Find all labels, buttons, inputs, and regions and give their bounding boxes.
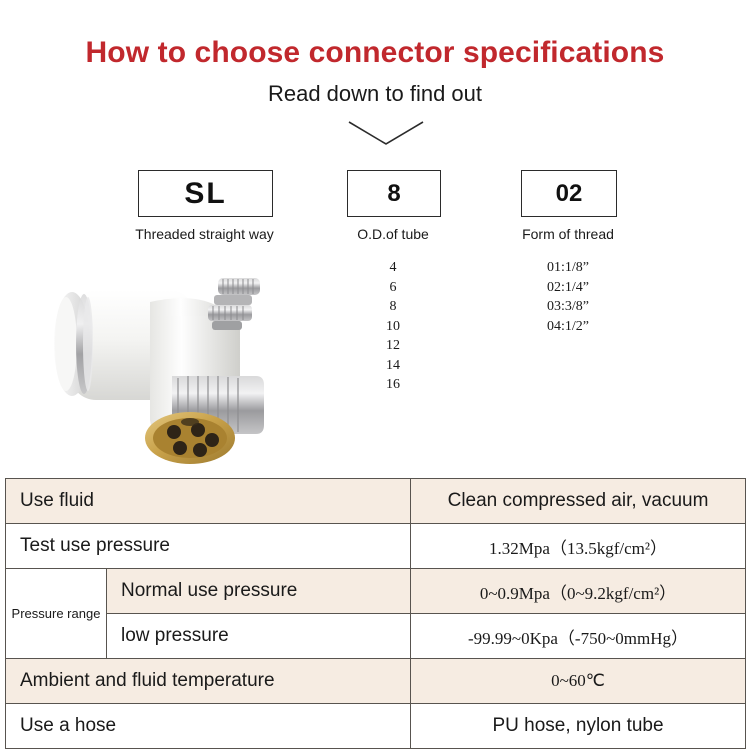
spec-label: Test use pressure bbox=[6, 524, 411, 569]
chevron-down-icon bbox=[341, 118, 431, 148]
specification-table: Use fluid Clean compressed air, vacuum T… bbox=[5, 478, 746, 749]
table-row: Use a hose PU hose, nylon tube bbox=[6, 704, 746, 749]
table-row: Test use pressure 1.32Mpa（13.5kgf/cm²） bbox=[6, 524, 746, 569]
spec-sub-label: low pressure bbox=[107, 614, 411, 659]
table-row: low pressure -99.99~0Kpa（-750~0mmHg） bbox=[6, 614, 746, 659]
spec-label: Ambient and fluid temperature bbox=[6, 659, 411, 704]
list-item: 04:1/2” bbox=[511, 317, 625, 337]
option-list-tube-od: 4 6 8 10 12 14 16 bbox=[347, 258, 439, 395]
spec-label: Use fluid bbox=[6, 479, 411, 524]
page-title: How to choose connector specifications bbox=[0, 36, 750, 70]
spec-value: 0~60℃ bbox=[411, 659, 746, 704]
spec-value: -99.99~0Kpa（-750~0mmHg） bbox=[411, 614, 746, 659]
list-item: 14 bbox=[347, 356, 439, 376]
code-box-series[interactable]: SL bbox=[138, 170, 273, 217]
list-item: 10 bbox=[347, 317, 439, 337]
code-box-tube-od[interactable]: 8 bbox=[347, 170, 441, 217]
code-caption-thread-form: Form of thread bbox=[511, 226, 625, 242]
table-row: Pressure range Normal use pressure 0~0.9… bbox=[6, 569, 746, 614]
page-root: How to choose connector specifications R… bbox=[0, 0, 750, 750]
table-row: Ambient and fluid temperature 0~60℃ bbox=[6, 659, 746, 704]
list-item: 8 bbox=[347, 297, 439, 317]
spec-label: Use a hose bbox=[6, 704, 411, 749]
spec-sub-label: Normal use pressure bbox=[107, 569, 411, 614]
list-item: 4 bbox=[347, 258, 439, 278]
spec-value: 0~0.9Mpa（0~9.2kgf/cm²） bbox=[411, 569, 746, 614]
list-item: 03:3/8” bbox=[511, 297, 625, 317]
spec-group-label: Pressure range bbox=[6, 569, 107, 659]
code-caption-series: Threaded straight way bbox=[108, 226, 301, 242]
list-item: 01:1/8” bbox=[511, 258, 625, 278]
list-item: 16 bbox=[347, 375, 439, 395]
product-photo bbox=[22, 272, 322, 468]
list-item: 02:1/4” bbox=[511, 278, 625, 298]
table-row: Use fluid Clean compressed air, vacuum bbox=[6, 479, 746, 524]
code-caption-tube-od: O.D.of tube bbox=[347, 226, 439, 242]
spec-value: 1.32Mpa（13.5kgf/cm²） bbox=[411, 524, 746, 569]
list-item: 6 bbox=[347, 278, 439, 298]
list-item: 12 bbox=[347, 336, 439, 356]
code-box-thread-form[interactable]: 02 bbox=[521, 170, 617, 217]
option-list-thread-form: 01:1/8” 02:1/4” 03:3/8” 04:1/2” bbox=[511, 258, 625, 336]
spec-value: Clean compressed air, vacuum bbox=[411, 479, 746, 524]
spec-value: PU hose, nylon tube bbox=[411, 704, 746, 749]
page-subtitle: Read down to find out bbox=[0, 81, 750, 107]
